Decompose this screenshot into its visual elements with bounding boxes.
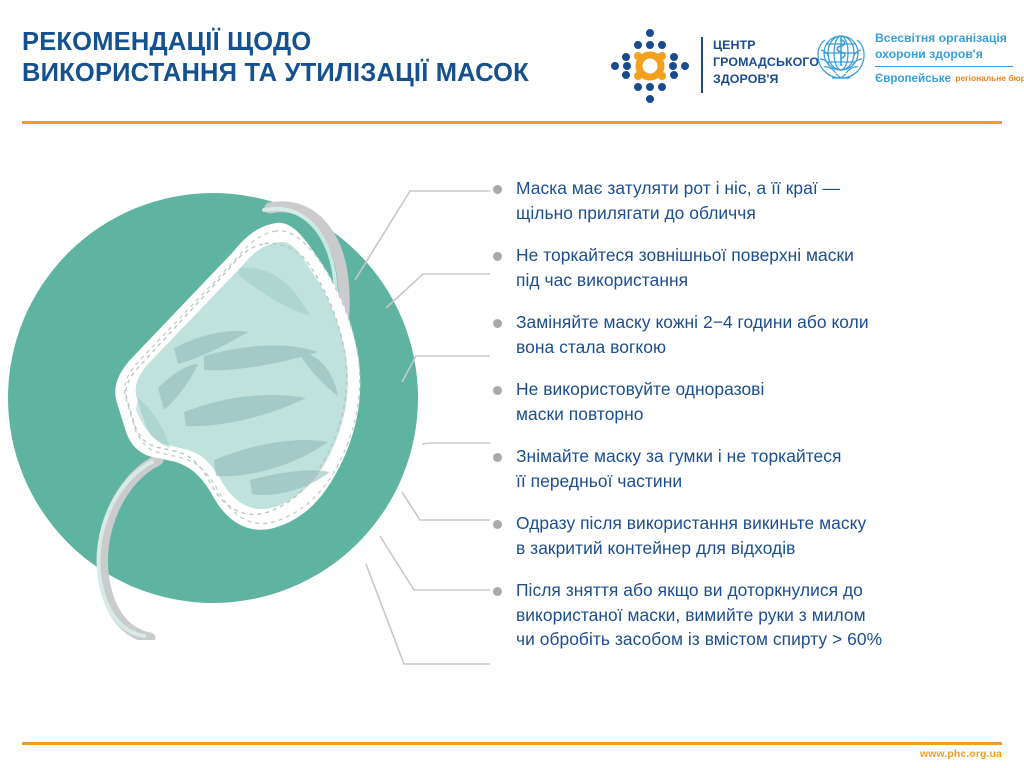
list-item: Не використовуйте одноразові маски повто… (489, 377, 1009, 426)
list-item-text: Не торкайтеся зовнішньої поверхні маски … (516, 243, 1009, 292)
bullet-dot-icon (493, 587, 502, 596)
cph-logo-divider (701, 37, 703, 93)
list-item: Маска має затуляти рот і ніс, а її краї … (489, 176, 1009, 225)
list-item-text: Заміняйте маску кожні 2−4 години або кол… (516, 310, 1009, 359)
bullet-dot-icon (493, 185, 502, 194)
footer-divider (22, 742, 1002, 745)
list-item: Одразу після використання викиньте маску… (489, 511, 1009, 560)
bullet-dot-icon (493, 319, 502, 328)
cph-dot-diamond-icon (609, 27, 691, 105)
who-office-label: регіональне бюро (955, 73, 1024, 83)
list-item: Після зняття або якщо ви доторкнулися до… (489, 578, 1009, 652)
who-logo-divider (875, 66, 1013, 67)
footer-website-url[interactable]: www.phc.org.ua (920, 748, 1002, 760)
list-item: Не торкайтеся зовнішньої поверхні маски … (489, 243, 1009, 292)
list-item-text: Маска має затуляти рот і ніс, а її краї … (516, 176, 1009, 225)
bullet-dot-icon (493, 252, 502, 261)
list-item-text: Не використовуйте одноразові маски повто… (516, 377, 1009, 426)
who-logo-text: Всесвітня організація охорони здоров'я (875, 31, 1015, 62)
center-public-health-logo: ЦЕНТР ГРОМАДСЬКОГО ЗДОРОВ'Я (609, 25, 804, 107)
bullet-dot-icon (493, 453, 502, 462)
who-emblem-icon (812, 28, 870, 86)
list-item-text: Одразу після використання викиньте маску… (516, 511, 1009, 560)
bullet-dot-icon (493, 386, 502, 395)
list-item-text: Знімайте маску за гумки і не торкайтеся … (516, 444, 1009, 493)
who-region-label: Європейське (875, 72, 951, 85)
page-title: РЕКОМЕНДАЦІЇ ЩОДО ВИКОРИСТАННЯ ТА УТИЛІЗ… (22, 27, 602, 89)
poster-header: РЕКОМЕНДАЦІЇ ЩОДО ВИКОРИСТАННЯ ТА УТИЛІЗ… (0, 0, 1024, 122)
surgical-mask-illustration (8, 160, 478, 640)
who-europe-logo: Всесвітня організація охорони здоров'я Є… (812, 26, 1012, 106)
bullet-dot-icon (493, 520, 502, 529)
list-item: Заміняйте маску кожні 2−4 години або кол… (489, 310, 1009, 359)
list-item: Знімайте маску за гумки і не торкайтеся … (489, 444, 1009, 493)
header-divider (22, 121, 1002, 124)
who-region-line: Європейське регіональне бюро (875, 69, 1020, 87)
recommendations-list: Маска має затуляти рот і ніс, а її краї … (489, 176, 1009, 670)
infographic-poster: РЕКОМЕНДАЦІЇ ЩОДО ВИКОРИСТАННЯ ТА УТИЛІЗ… (0, 0, 1024, 768)
list-item-text: Після зняття або якщо ви доторкнулися до… (516, 578, 1009, 652)
